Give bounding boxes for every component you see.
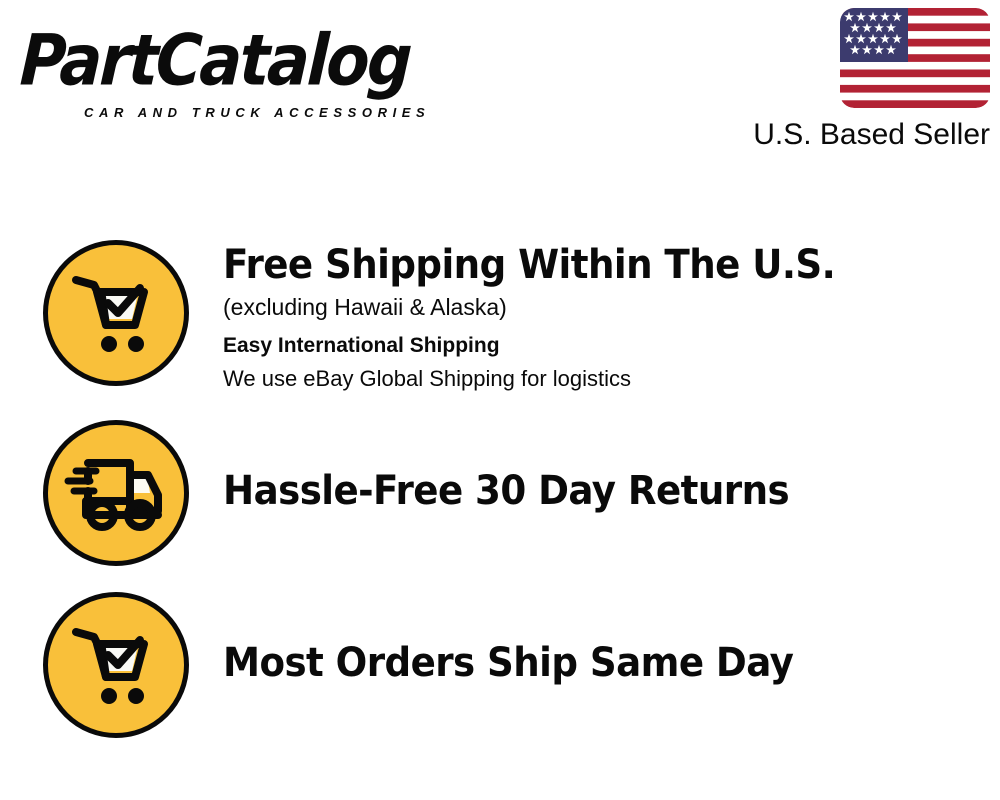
- feature-text-block: Free Shipping Within The U.S. (excluding…: [223, 240, 1000, 395]
- page-header: PartCatalog CAR AND TRUCK ACCESSORIES: [0, 0, 1000, 165]
- feature-text-block: Hassle-Free 30 Day Returns: [223, 420, 1000, 516]
- brand-tagline: CAR AND TRUCK ACCESSORIES: [84, 105, 430, 120]
- feature-row: Hassle-Free 30 Day Returns: [0, 420, 1000, 566]
- feature-title: Most Orders Ship Same Day: [223, 638, 946, 688]
- feature-text-block: Most Orders Ship Same Day: [223, 592, 1000, 688]
- feature-row: Free Shipping Within The U.S. (excluding…: [0, 240, 1000, 395]
- shopping-cart-check-icon: [43, 240, 189, 386]
- feature-title: Hassle-Free 30 Day Returns: [223, 466, 946, 516]
- feature-subtitle-bold: Easy International Shipping: [223, 329, 1000, 363]
- brand-logo[interactable]: PartCatalog CAR AND TRUCK ACCESSORIES: [22, 22, 492, 117]
- us-based-seller-badge: U.S. Based Seller: [720, 8, 990, 153]
- feature-subtitle: We use eBay Global Shipping for logistic…: [223, 363, 1000, 395]
- us-based-seller-label: U.S. Based Seller: [720, 117, 990, 153]
- feature-note: (excluding Hawaii & Alaska): [223, 290, 1000, 324]
- feature-title: Free Shipping Within The U.S.: [223, 240, 946, 290]
- shopping-cart-check-icon: [43, 592, 189, 738]
- fast-delivery-truck-icon: [43, 420, 189, 566]
- us-flag-icon: [840, 8, 990, 108]
- brand-wordmark: PartCatalog: [18, 22, 492, 100]
- feature-row: Most Orders Ship Same Day: [0, 592, 1000, 738]
